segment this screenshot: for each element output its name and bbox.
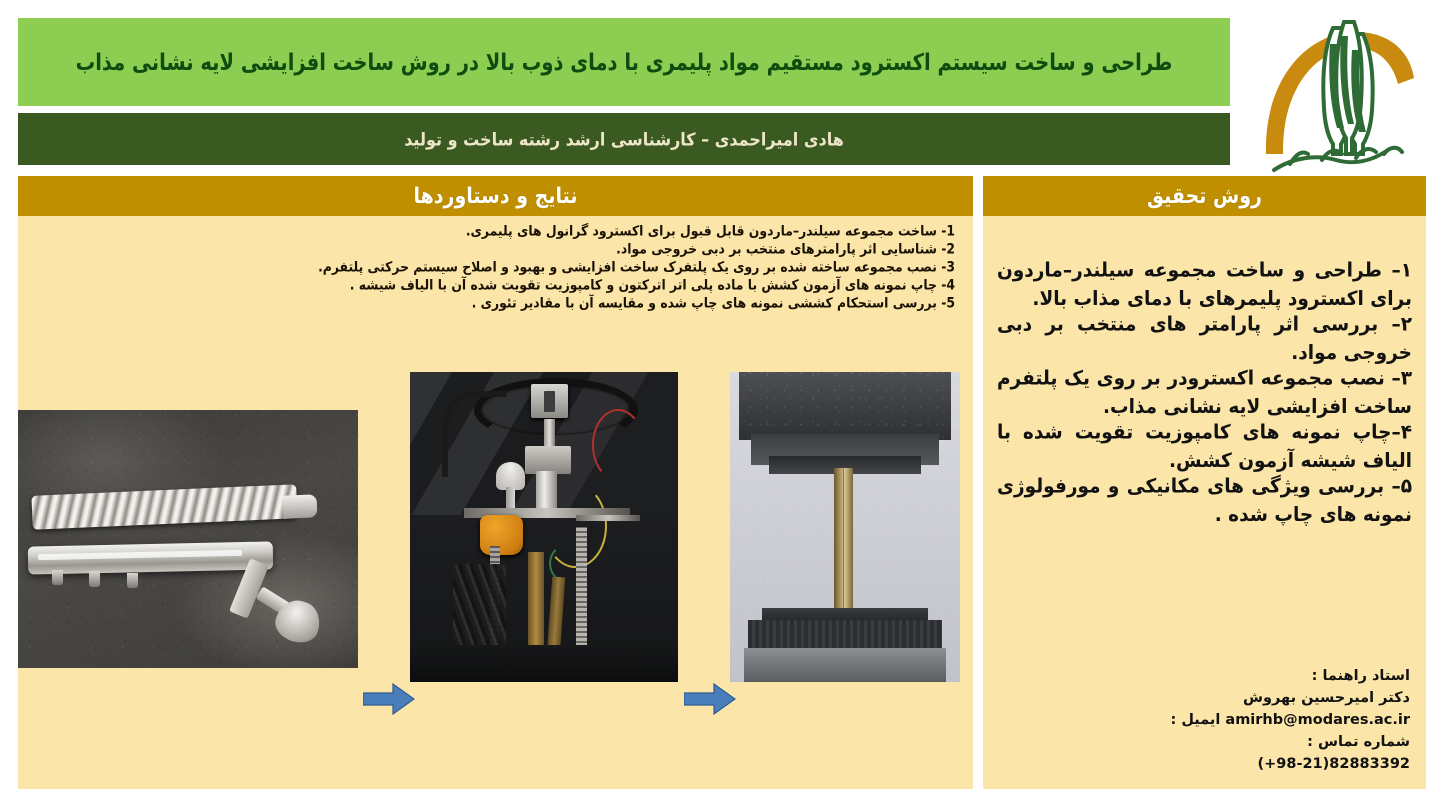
list-item: 1- ساخت مجموعه سیلندر–ماردون قابل قبول ب… xyxy=(35,221,955,240)
method-heading: روش تحقیق xyxy=(1147,183,1262,208)
contact-block: استاد راهنما : دکتر امیرحسین بهروش amirh… xyxy=(999,665,1410,775)
list-item: ۵– بررسی ویژگی های مکانیکی و مورفولوژی ن… xyxy=(997,472,1412,529)
supervisor-label: استاد راهنما : xyxy=(999,665,1410,687)
list-item: ۱– طراحی و ساخت مجموعه سیلندر–ماردون برا… xyxy=(997,256,1412,313)
results-heading: نتایج و دستاوردها xyxy=(413,183,577,208)
poster-author-bar: هادی امیراحمدی – کارشناسی ارشد رشته ساخت… xyxy=(18,113,1230,165)
process-arrow-icon xyxy=(684,682,736,716)
email-row: amirhb@modares.ac.ir ایمیل : xyxy=(999,709,1410,731)
university-logo xyxy=(1238,4,1428,176)
results-panel-header: نتایج و دستاوردها xyxy=(18,176,973,216)
method-panel: روش تحقیق ۱– طراحی و ساخت مجموعه سیلندر–… xyxy=(983,176,1426,789)
method-list: ۱– طراحی و ساخت مجموعه سیلندر–ماردون برا… xyxy=(997,258,1412,528)
process-arrow-icon xyxy=(363,682,415,716)
list-item: 5- بررسی استحکام کششی نمونه های چاپ شده … xyxy=(35,293,955,312)
results-panel: نتایج و دستاوردها 1- ساخت مجموعه سیلندر–… xyxy=(18,176,973,789)
figure-strip xyxy=(18,372,973,682)
email-label: ایمیل : xyxy=(1171,712,1221,728)
poster-root: طراحی و ساخت سیستم اکسترود مستقیم مواد پ… xyxy=(0,0,1433,805)
phone-value[interactable]: (+98-21)82883392 xyxy=(999,753,1410,775)
list-item: 4- چاپ نمونه های آزمون کشش با ماده پلی ا… xyxy=(35,275,955,294)
email-value[interactable]: amirhb@modares.ac.ir xyxy=(1225,712,1410,728)
supervisor-name: دکتر امیرحسین بهروش xyxy=(999,687,1410,709)
extruder-screw-and-barrel-photo xyxy=(18,410,358,668)
list-item: 3- نصب مجموعه ساخته شده بر روی یک پلتفرک… xyxy=(35,257,955,276)
poster-title-bar: طراحی و ساخت سیستم اکسترود مستقیم مواد پ… xyxy=(18,18,1230,106)
fdm-printer-extruder-assembly-photo xyxy=(410,372,678,682)
list-item: ۴–چاپ نمونه های کامپوزیت تقویت شده با ال… xyxy=(997,418,1412,475)
list-item: 2- شناسایی اثر پارامترهای منتخب بر دبی خ… xyxy=(35,239,955,258)
tarbiat-modares-logo-icon xyxy=(1238,4,1428,176)
author-line: هادی امیراحمدی – کارشناسی ارشد رشته ساخت… xyxy=(404,129,844,150)
list-item: ۳– نصب مجموعه اکسترودر بر روی یک پلتفرم … xyxy=(997,364,1412,421)
page-title: طراحی و ساخت سیستم اکسترود مستقیم مواد پ… xyxy=(76,48,1173,75)
results-list: 1- ساخت مجموعه سیلندر–ماردون قابل قبول ب… xyxy=(35,222,955,312)
method-panel-header: روش تحقیق xyxy=(983,176,1426,216)
list-item: ۲– بررسی اثر پارامتر های منتخب بر دبی خر… xyxy=(997,310,1412,367)
tensile-test-specimen-photo xyxy=(730,372,960,682)
phone-label: شماره تماس : xyxy=(999,731,1410,753)
